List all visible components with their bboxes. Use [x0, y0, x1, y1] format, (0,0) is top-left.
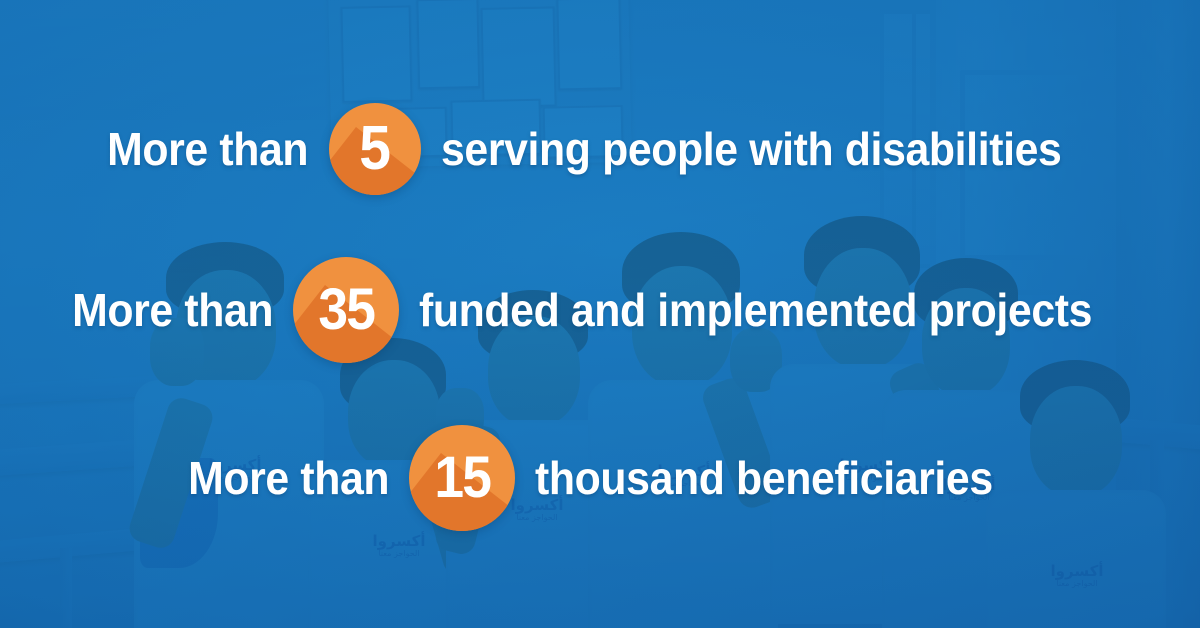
statistics-list: More than 5 serving people with disabili…	[0, 0, 1200, 628]
stat-3-number: 15	[434, 449, 490, 507]
stat-1-prefix: More than	[107, 122, 308, 176]
stat-2-number: 35	[318, 281, 374, 339]
stat-3-prefix: More than	[188, 451, 389, 505]
stat-2-prefix: More than	[72, 283, 273, 337]
stat-row-2: More than 35 funded and implemented proj…	[0, 257, 1200, 363]
stat-2-badge: 35	[293, 257, 399, 363]
stat-1-suffix: serving people with disabilities	[441, 122, 1061, 176]
stat-row-3: More than 15 thousand beneficiaries	[0, 425, 1200, 531]
stat-1-number: 5	[360, 118, 390, 180]
stat-3-suffix: thousand beneficiaries	[535, 451, 993, 505]
stat-2-suffix: funded and implemented projects	[419, 283, 1092, 337]
stat-3-badge: 15	[409, 425, 515, 531]
stat-1-badge: 5	[329, 103, 421, 195]
stat-row-1: More than 5 serving people with disabili…	[0, 103, 1200, 195]
impact-statistics-banner: أكسرواالحواجز معنا أكسرواالحواجز معنا أك…	[0, 0, 1200, 628]
